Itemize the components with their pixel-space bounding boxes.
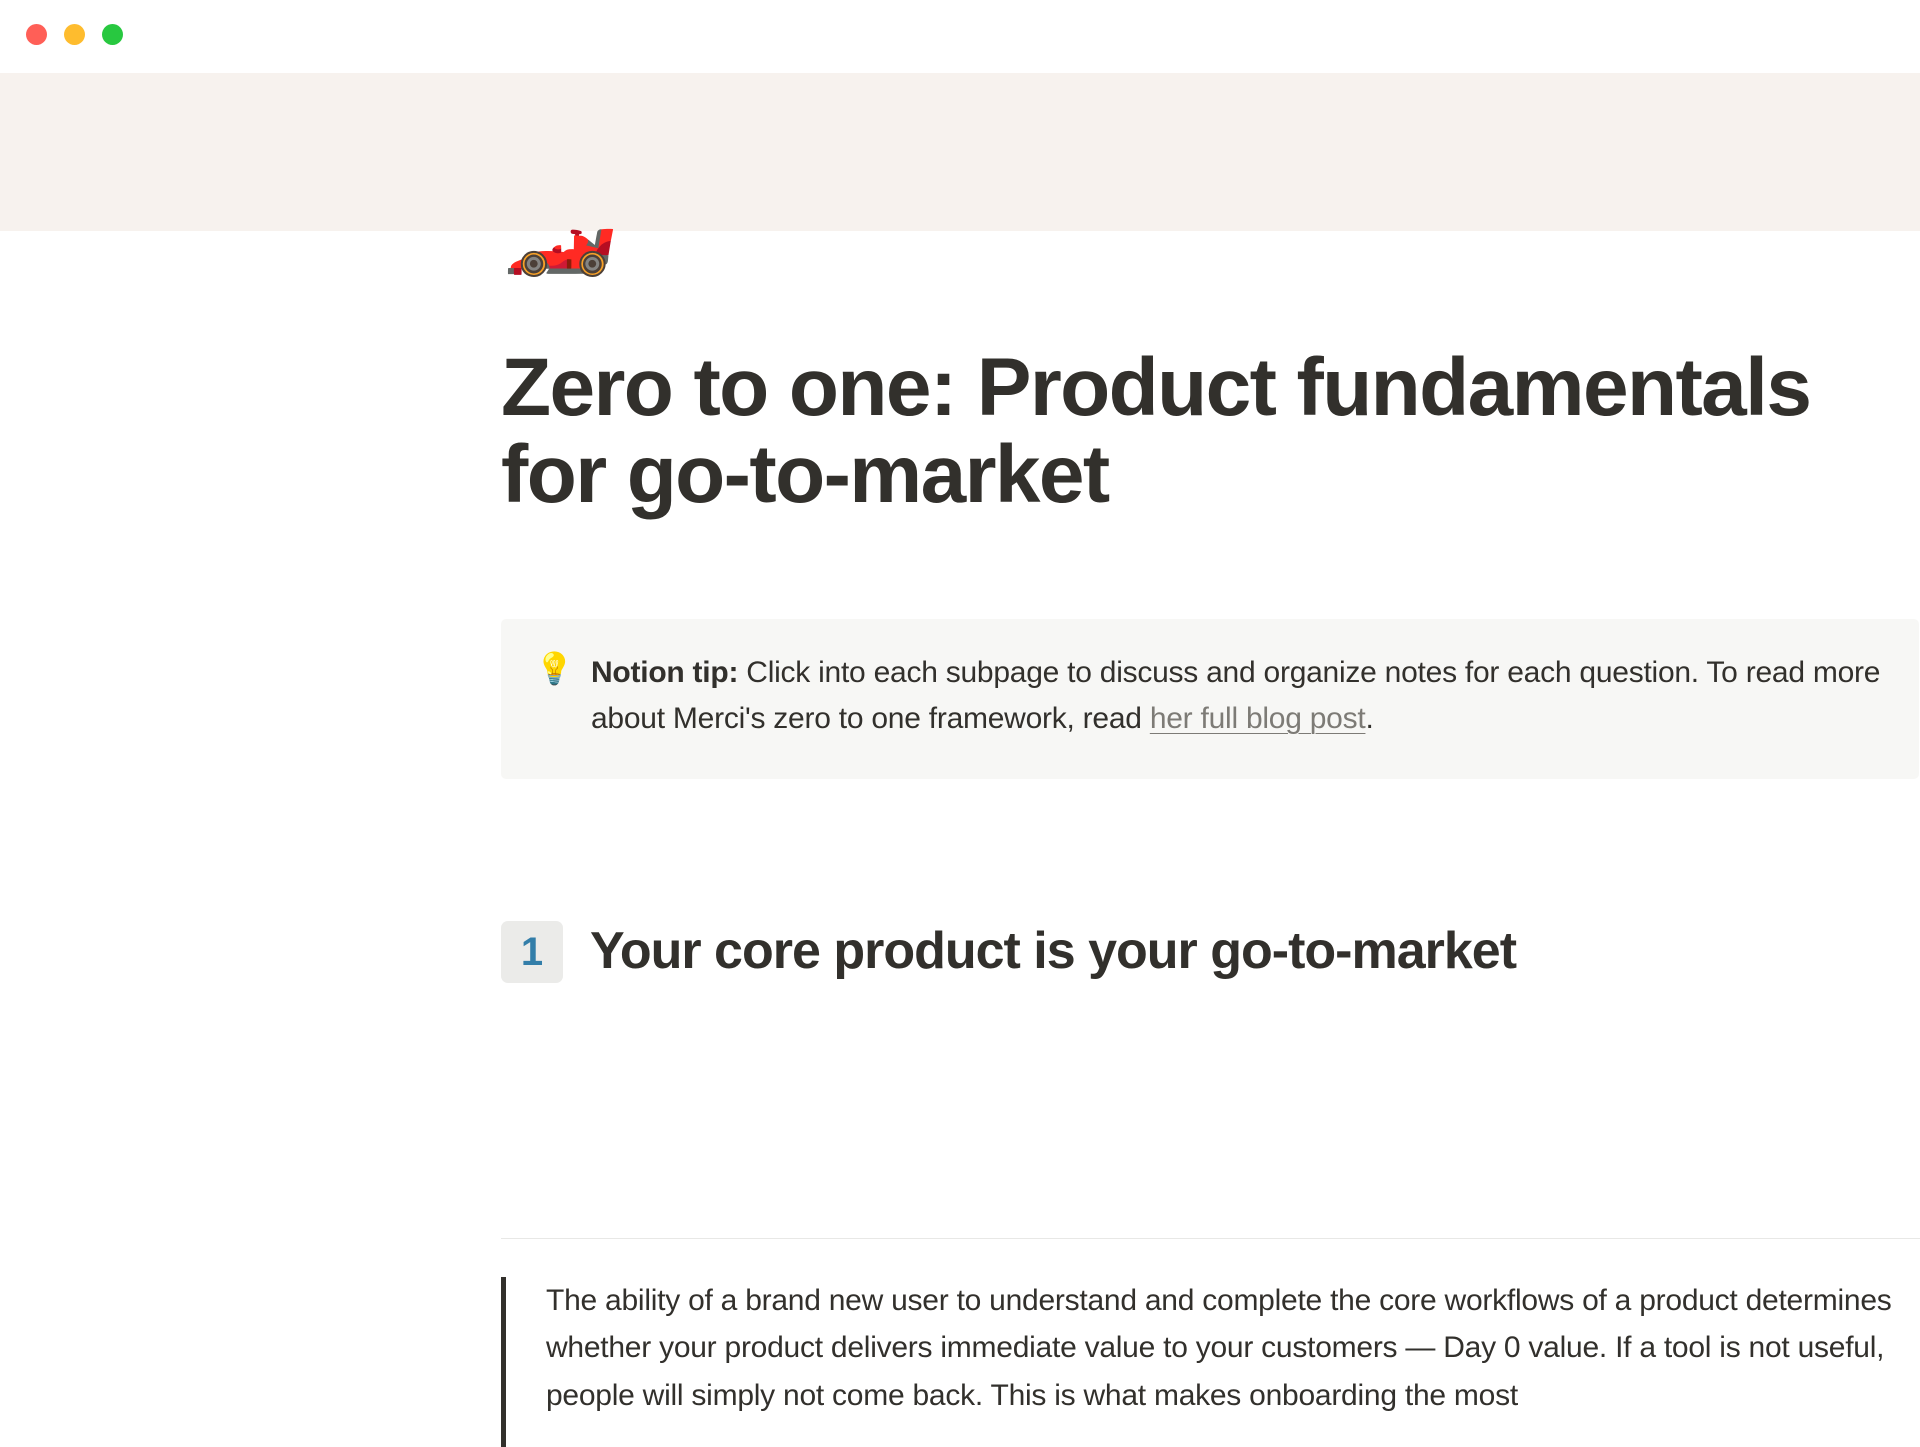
quote-text[interactable]: The ability of a brand new user to under… (506, 1277, 1920, 1447)
racing-car-emoji-icon[interactable]: 🏎️ (503, 181, 618, 273)
minimize-window-button[interactable] (64, 24, 85, 45)
traffic-light-group (26, 24, 123, 45)
page-body: 🏎️ Zero to one: Product fundamentals for… (0, 231, 1920, 1200)
quote-block[interactable]: The ability of a brand new user to under… (501, 1277, 1920, 1447)
section-number-badge: 1 (501, 921, 563, 983)
page-cover[interactable] (0, 73, 1920, 231)
page-title[interactable]: Zero to one: Product fundamentals for go… (501, 345, 1901, 519)
maximize-window-button[interactable] (102, 24, 123, 45)
callout-body-after-link: . (1365, 702, 1373, 735)
close-window-button[interactable] (26, 24, 47, 45)
section-title[interactable]: Your core product is your go-to-market (590, 923, 1516, 980)
callout-text: Notion tip: Click into each subpage to d… (591, 649, 1885, 749)
callout-block[interactable]: 💡 Notion tip: Click into each subpage to… (501, 619, 1919, 779)
window-title-bar (0, 0, 1920, 73)
section-divider (501, 1238, 1920, 1239)
blog-post-link[interactable]: her full blog post (1150, 702, 1366, 735)
callout-lead-label: Notion tip: (591, 656, 738, 689)
section-heading: 1 Your core product is your go-to-market (501, 921, 1920, 983)
light-bulb-emoji-icon: 💡 (535, 649, 571, 749)
